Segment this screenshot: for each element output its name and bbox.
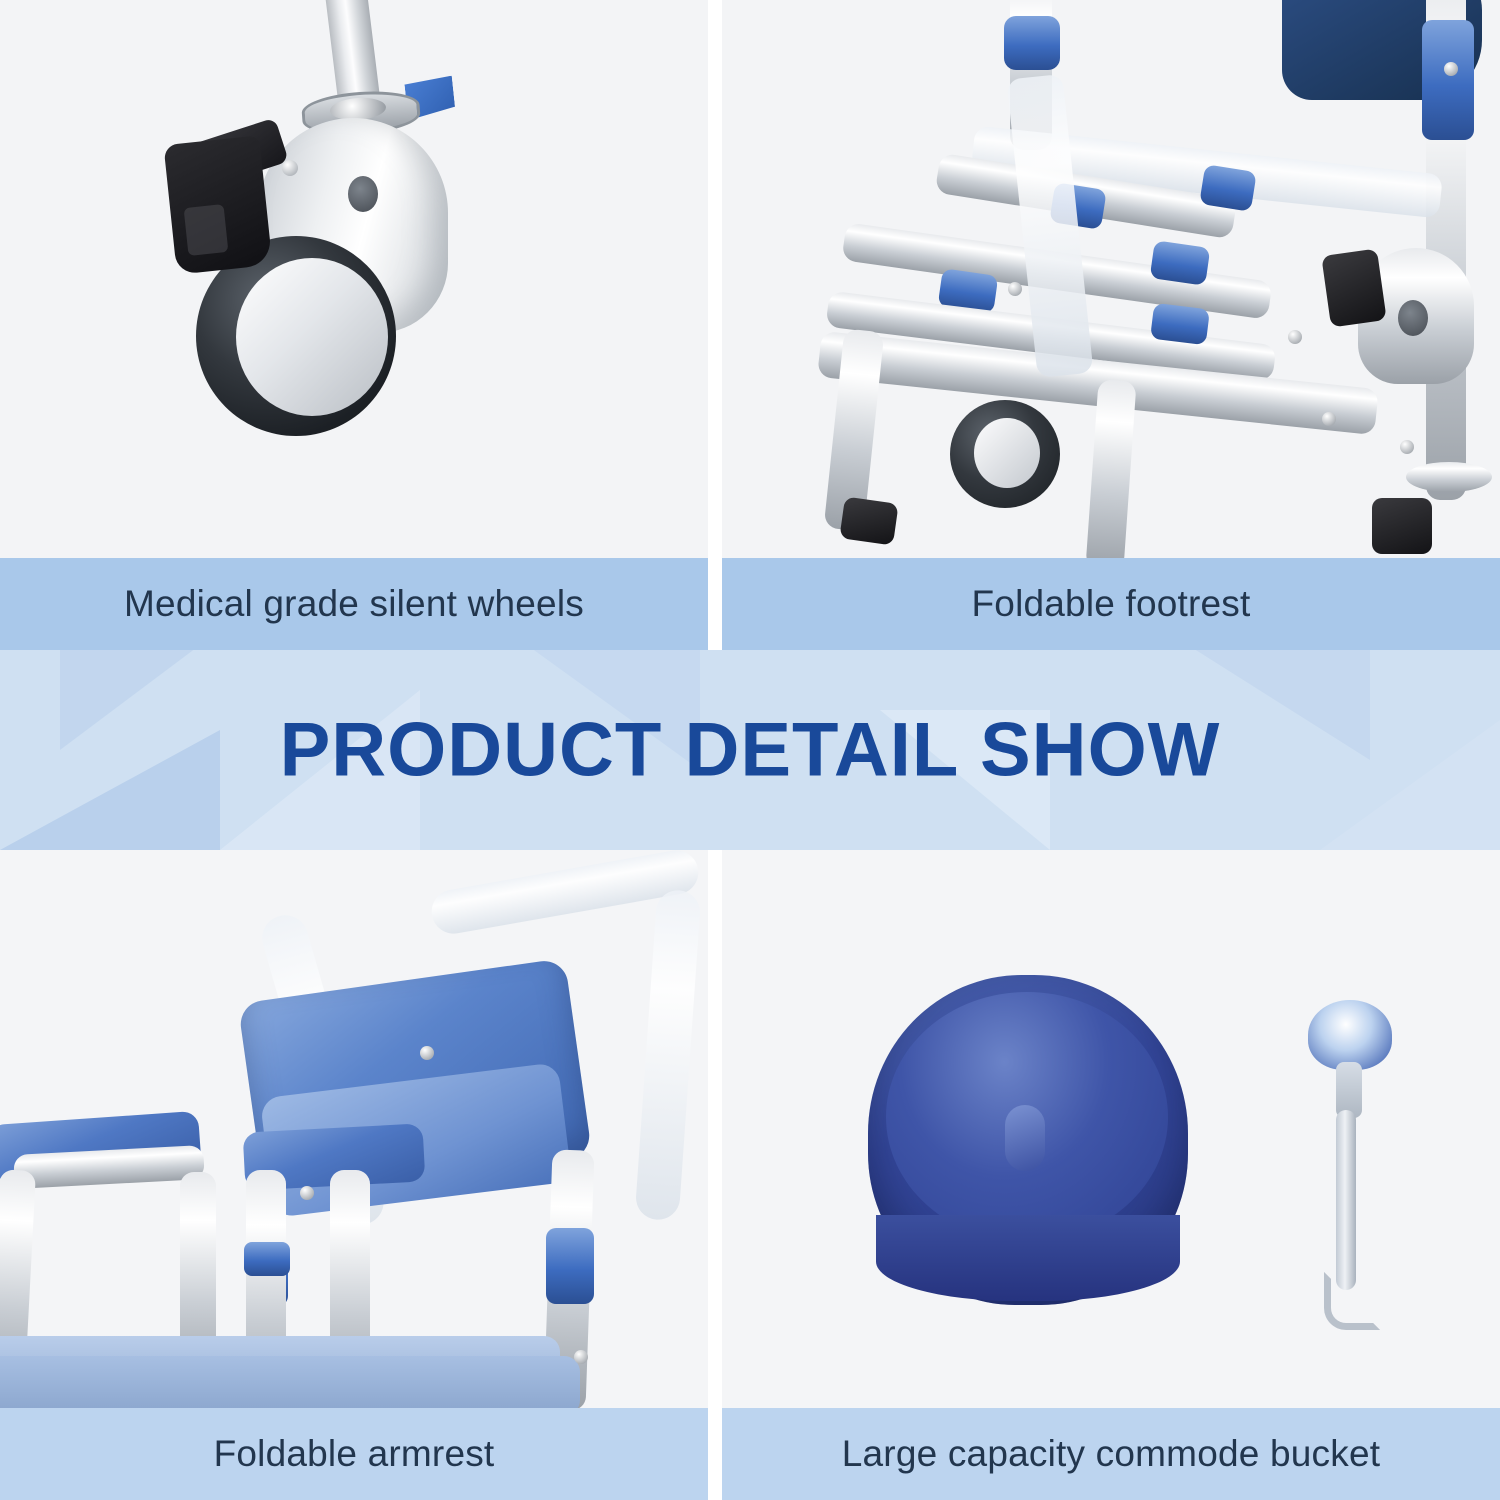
toilet-brush-head [1308, 1000, 1392, 1070]
rear-brake-lever [1321, 248, 1386, 327]
rear-caster-collar [1406, 462, 1492, 492]
small-wheel-hub [974, 418, 1040, 488]
frame-screw-5 [1444, 62, 1458, 76]
leg-rubber-tip [839, 496, 898, 545]
caption-armrest: Foldable armrest [214, 1433, 495, 1475]
product-detail-collage: Medical grade silent wheels [0, 0, 1500, 1500]
rear-caster-brake [1372, 498, 1432, 554]
frame-screw-4 [1400, 440, 1414, 454]
height-clamp-front [244, 1242, 290, 1276]
toilet-brush-hook [1324, 1272, 1380, 1330]
gutter-vertical-top [708, 0, 722, 650]
caster-housing-hole-small [348, 176, 378, 212]
caption-bar-armrest: Foldable armrest [0, 1408, 708, 1500]
commode-lid-handle [1005, 1105, 1045, 1171]
frame-screw-1 [1008, 282, 1022, 296]
caption-bucket: Large capacity commode bucket [842, 1433, 1380, 1475]
caption-bar-wheels: Medical grade silent wheels [0, 558, 708, 650]
panel-bucket: Large capacity commode bucket [722, 850, 1500, 1500]
banner-product-detail-show: PRODUCT DETAIL SHOW [0, 650, 1500, 850]
caption-wheels: Medical grade silent wheels [124, 583, 584, 625]
brake-lever-slot [184, 204, 229, 256]
panel-armrest: Foldable armrest [0, 850, 708, 1500]
toilet-brush-handle [1336, 1110, 1356, 1290]
armrest-screw-1 [420, 1046, 434, 1060]
caption-bar-footrest: Foldable footrest [722, 558, 1500, 650]
panel-footrest: Foldable footrest [722, 0, 1500, 650]
rear-housing-hole [1398, 300, 1428, 336]
caption-bar-bucket: Large capacity commode bucket [722, 1408, 1500, 1500]
commode-bucket-rim [876, 1215, 1180, 1301]
seat-plate-lower [0, 1356, 580, 1416]
housing-screw [282, 160, 298, 176]
frame-screw-2 [1288, 330, 1302, 344]
gutter-vertical-bottom [708, 850, 722, 1500]
panel-wheels: Medical grade silent wheels [0, 0, 708, 650]
footrest-sleeve-5 [1150, 303, 1210, 346]
caption-footrest: Foldable footrest [971, 583, 1250, 625]
banner-title: PRODUCT DETAIL SHOW [0, 707, 1500, 794]
footrest-tube-sleeve-2 [1199, 164, 1257, 212]
armrest-screw-3 [574, 1350, 588, 1364]
wheel-hub [236, 258, 388, 416]
footrest-sleeve-4 [1150, 240, 1211, 285]
height-clamp-right [546, 1228, 594, 1304]
frame-clamp-right [1422, 20, 1474, 140]
frame-clamp-left [1004, 16, 1060, 70]
armrest-screw-2 [300, 1186, 314, 1200]
frame-screw-3 [1322, 412, 1336, 426]
